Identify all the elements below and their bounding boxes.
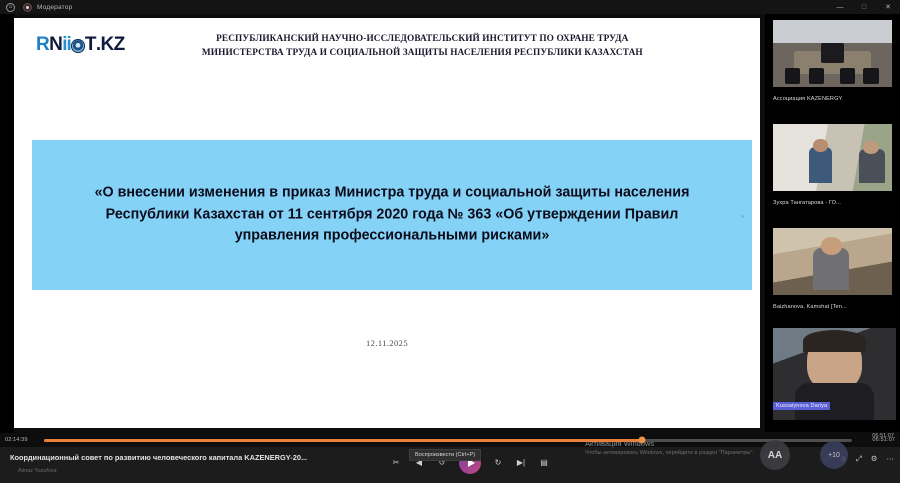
logo-suffix-kz: .KZ — [96, 35, 125, 54]
participant-tile[interactable]: Зухра Тангатарова - ГО... — [765, 118, 900, 222]
participant-video — [773, 228, 892, 295]
record-icon[interactable] — [23, 3, 32, 12]
meeting-subtitle: Almaz Yusufova — [18, 468, 57, 474]
current-time: 02:14:39 — [0, 437, 40, 443]
left-letterbox — [0, 14, 14, 433]
slide-date: 12.11.2025 — [14, 338, 760, 348]
slide-header: RNiiT.KZ РЕСПУБЛИКАНСКИЙ НАУЧНО-ИССЛЕДОВ… — [14, 18, 760, 61]
participant-name: Kussaiynova Dariya — [773, 402, 830, 410]
participant-tile-active[interactable]: Kussaiynova Dariya — [765, 326, 900, 430]
participant-name: Ассоциация KAZENERGY — [773, 96, 842, 102]
rniiot-logo: RNiiT.KZ — [36, 35, 125, 54]
institute-header-line1: РЕСПУБЛИКАНСКИЙ НАУЧНО-ИССЛЕДОВАТЕЛЬСКИЙ… — [125, 32, 720, 46]
progress-track[interactable] — [44, 439, 852, 442]
clip-icon[interactable]: ✂ — [390, 456, 402, 470]
home-icon[interactable]: ⌂ — [6, 3, 15, 12]
corner-duration: 06:51:07 — [872, 433, 894, 439]
screen-share-icon[interactable]: ⤢ — [856, 455, 862, 463]
participant-tile[interactable]: Ассоциация KAZENERGY — [765, 14, 900, 118]
window-controls: — □ ✕ — [828, 0, 900, 14]
logo-letter-t: T — [85, 35, 96, 54]
maximize-button[interactable]: □ — [852, 0, 876, 14]
progress-fill — [44, 439, 642, 442]
meeting-player-window: ⌂ Модератор — □ ✕ RNiiT.KZ РЕСПУБЛИКАНСК… — [0, 0, 900, 483]
band-marker-dot — [741, 215, 744, 218]
avatar[interactable]: AA — [760, 440, 790, 470]
participant-video — [773, 124, 892, 191]
capture-icon[interactable]: ▤ — [538, 456, 550, 470]
progress-handle[interactable] — [638, 437, 645, 444]
meeting-title: Координационный совет по развитию челове… — [10, 453, 307, 462]
more-icon[interactable]: ⋯ — [887, 455, 895, 463]
next-icon[interactable]: ▶| — [515, 456, 527, 470]
gear-icon — [71, 39, 85, 53]
participant-video — [773, 20, 892, 87]
participant-name: Baizhanova, Kamshat [Ten... — [773, 304, 847, 310]
settings-icon[interactable]: ⚙ — [871, 455, 878, 463]
title-bar: ⌂ Модератор — □ ✕ — [0, 0, 900, 14]
slide-title-band: «О внесении изменения в приказ Министра … — [32, 140, 752, 290]
logo-letters-ii: ii — [62, 35, 71, 54]
institute-header: РЕСПУБЛИКАНСКИЙ НАУЧНО-ИССЛЕДОВАТЕЛЬСКИЙ… — [125, 32, 750, 61]
participant-name: Зухра Тангатарова - ГО... — [773, 200, 841, 206]
participant-filmstrip[interactable]: Ассоциация KAZENERGY Зухра Тангатарова -… — [765, 14, 900, 432]
window-title: Модератор — [37, 4, 72, 11]
institute-header-line2: МИНИСТЕРСТВА ТРУДА И СОЦИАЛЬНОЙ ЗАЩИТЫ Н… — [125, 46, 720, 60]
minimize-button[interactable]: — — [828, 0, 852, 14]
forward-icon[interactable]: ↻ — [492, 456, 504, 470]
shared-slide[interactable]: RNiiT.KZ РЕСПУБЛИКАНСКИЙ НАУЧНО-ИССЛЕДОВ… — [14, 18, 760, 428]
extra-participants-badge[interactable]: +10 — [820, 441, 848, 469]
play-tooltip: Воспроизвести (Ctrl+P) — [409, 449, 481, 461]
slide-title-text: «О внесении изменения в приказ Министра … — [32, 182, 752, 247]
participant-tile[interactable]: Baizhanova, Kamshat [Ten... — [765, 222, 900, 326]
logo-letter-r: R — [36, 35, 49, 54]
logo-letter-n: N — [49, 35, 62, 54]
close-button[interactable]: ✕ — [876, 0, 900, 14]
